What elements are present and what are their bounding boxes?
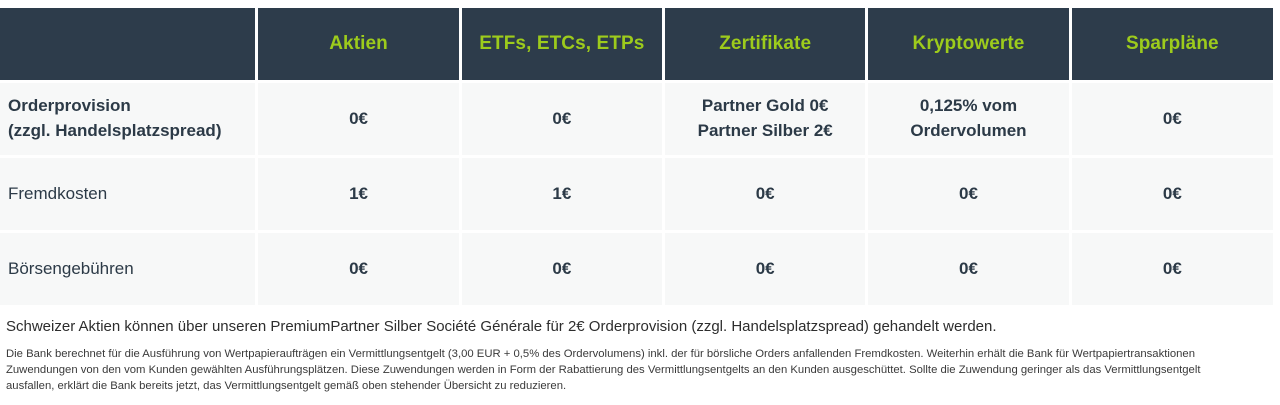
cell-boersengebuehren-sparplaene: 0€ bbox=[1069, 230, 1273, 305]
cell-boersengebuehren-etfs: 0€ bbox=[459, 230, 662, 305]
cell-boersengebuehren-kryptowerte: 0€ bbox=[865, 230, 1068, 305]
table-header-row: Aktien ETFs, ETCs, ETPs Zertifikate Kryp… bbox=[0, 0, 1273, 80]
cell-value-line-1: 0,125% vom bbox=[878, 94, 1058, 119]
table-header: Aktien ETFs, ETCs, ETPs Zertifikate Kryp… bbox=[0, 0, 1273, 80]
cell-orderprovision-kryptowerte: 0,125% vom Ordervolumen bbox=[865, 80, 1068, 155]
column-header-kryptowerte: Kryptowerte bbox=[865, 0, 1068, 80]
column-header-aktien: Aktien bbox=[255, 0, 458, 80]
cell-boersengebuehren-zertifikate: 0€ bbox=[662, 230, 865, 305]
row-label-fremdkosten: Fremdkosten bbox=[0, 155, 255, 230]
row-label-line-2: (zzgl. Handelsplatzspread) bbox=[8, 119, 245, 144]
cell-fremdkosten-etfs: 1€ bbox=[459, 155, 662, 230]
fee-comparison-table: Aktien ETFs, ETCs, ETPs Zertifikate Kryp… bbox=[0, 0, 1273, 305]
cell-fremdkosten-zertifikate: 0€ bbox=[662, 155, 865, 230]
disclaimer-text: Die Bank berechnet für die Ausführung vo… bbox=[6, 346, 1211, 394]
column-header-blank bbox=[0, 0, 255, 80]
footnote-main-text: Schweizer Aktien können über unseren Pre… bbox=[6, 317, 1280, 337]
row-label-line-1: Orderprovision bbox=[8, 94, 245, 119]
row-label-boersengebuehren: Börsengebühren bbox=[0, 230, 255, 305]
cell-fremdkosten-sparplaene: 0€ bbox=[1069, 155, 1273, 230]
cell-value-line-1: Partner Gold 0€ bbox=[675, 94, 855, 119]
cell-orderprovision-etfs: 0€ bbox=[459, 80, 662, 155]
cell-fremdkosten-aktien: 1€ bbox=[255, 155, 458, 230]
cell-orderprovision-zertifikate: Partner Gold 0€ Partner Silber 2€ bbox=[662, 80, 865, 155]
table-row: Orderprovision (zzgl. Handelsplatzspread… bbox=[0, 80, 1273, 155]
column-header-etfs: ETFs, ETCs, ETPs bbox=[459, 0, 662, 80]
column-header-zertifikate: Zertifikate bbox=[662, 0, 865, 80]
row-label-orderprovision: Orderprovision (zzgl. Handelsplatzspread… bbox=[0, 80, 255, 155]
table-body: Orderprovision (zzgl. Handelsplatzspread… bbox=[0, 80, 1273, 305]
table-row: Fremdkosten 1€ 1€ 0€ 0€ 0€ bbox=[0, 155, 1273, 230]
cell-value-line-2: Partner Silber 2€ bbox=[675, 119, 855, 144]
cell-value-line-2: Ordervolumen bbox=[878, 119, 1058, 144]
column-header-sparplaene: Sparpläne bbox=[1069, 0, 1273, 80]
cell-orderprovision-sparplaene: 0€ bbox=[1069, 80, 1273, 155]
table-row: Börsengebühren 0€ 0€ 0€ 0€ 0€ bbox=[0, 230, 1273, 305]
cell-orderprovision-aktien: 0€ bbox=[255, 80, 458, 155]
fee-table-page: Aktien ETFs, ETCs, ETPs Zertifikate Kryp… bbox=[0, 0, 1280, 405]
cell-boersengebuehren-aktien: 0€ bbox=[255, 230, 458, 305]
cell-fremdkosten-kryptowerte: 0€ bbox=[865, 155, 1068, 230]
